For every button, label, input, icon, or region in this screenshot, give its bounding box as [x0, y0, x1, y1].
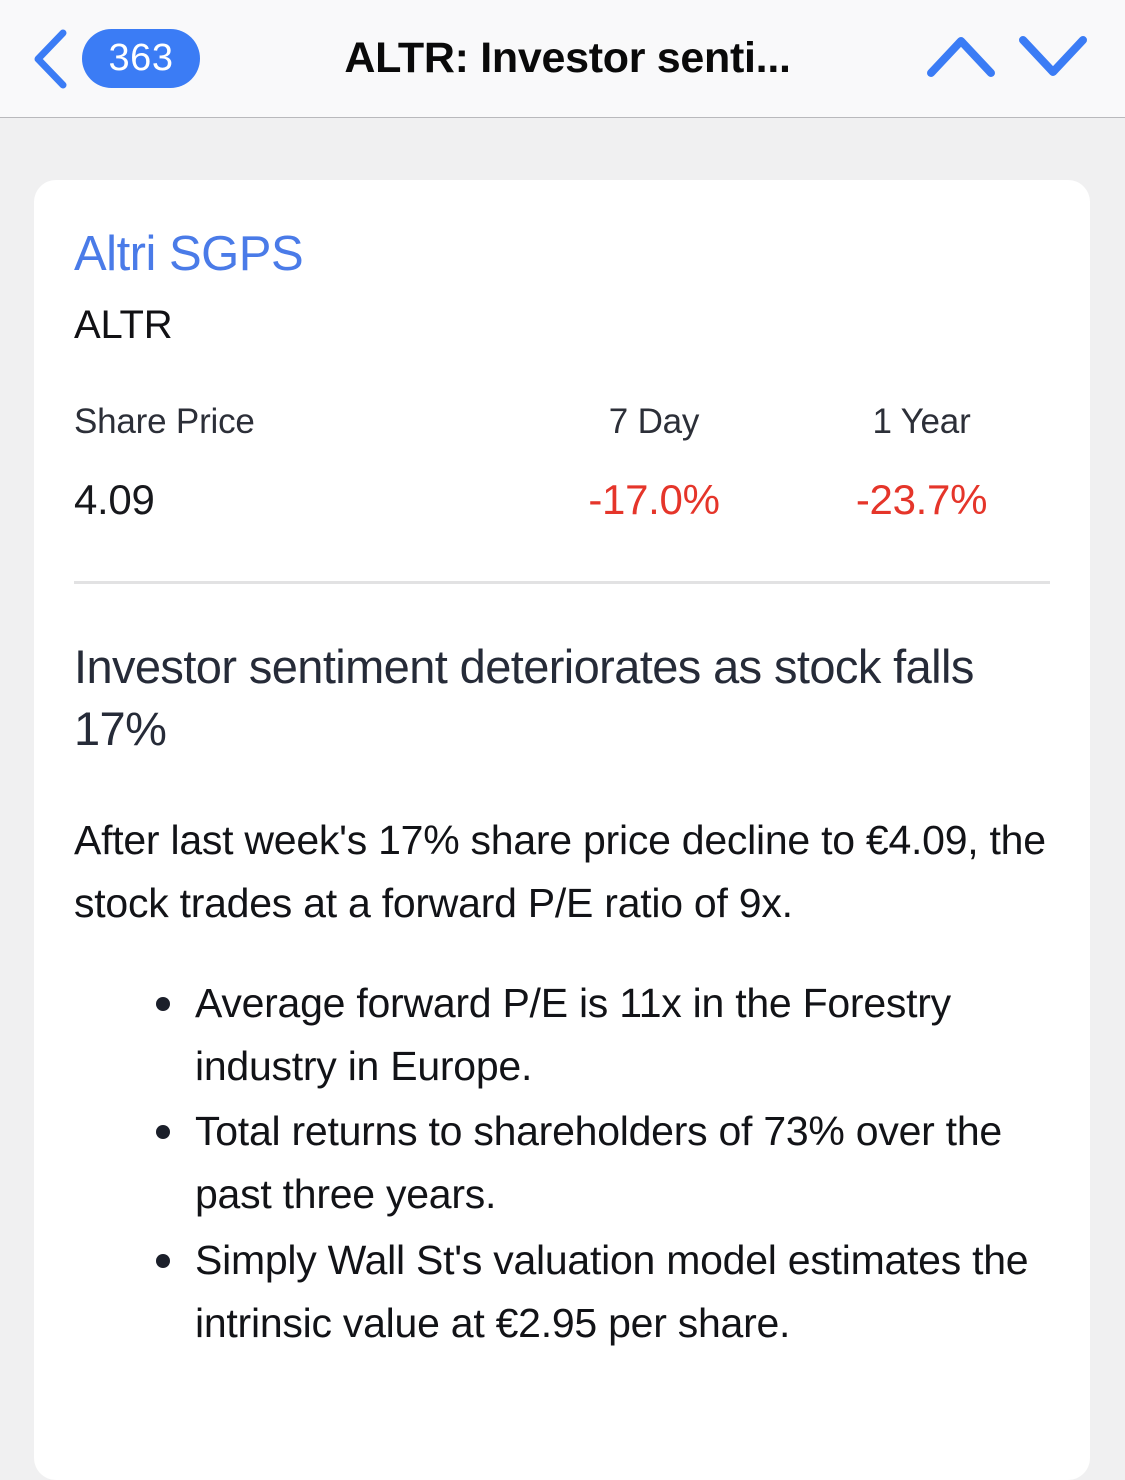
article-bullet-list: Average forward P/E is 11x in the Forest… [74, 972, 1050, 1355]
chevron-down-icon [1017, 33, 1089, 84]
top-navigation-bar: 363 ALTR: Investor senti... [0, 0, 1125, 118]
stat-value-7-day: -17.0% [514, 476, 794, 524]
list-item: Total returns to shareholders of 73% ove… [156, 1100, 1050, 1226]
stat-label-share-price: Share Price [74, 402, 514, 442]
page-title: ALTR: Investor senti... [200, 34, 915, 83]
article-card: Altri SGPS ALTR Share Price 7 Day 1 Year… [34, 180, 1090, 1480]
stat-label-1-year: 1 Year [794, 402, 1049, 442]
section-divider [74, 581, 1050, 584]
unread-count-badge[interactable]: 363 [82, 29, 200, 88]
list-item: Average forward P/E is 11x in the Forest… [156, 972, 1050, 1098]
stat-value-share-price: 4.09 [74, 476, 514, 524]
previous-article-button[interactable] [915, 24, 1007, 94]
company-name-link[interactable]: Altri SGPS [74, 228, 303, 281]
back-button[interactable] [22, 29, 78, 89]
stats-block: Share Price 7 Day 1 Year 4.09 -17.0% -23… [74, 402, 1050, 524]
stat-label-7-day: 7 Day [514, 402, 794, 442]
stats-value-row: 4.09 -17.0% -23.7% [74, 476, 1050, 524]
company-ticker: ALTR [74, 303, 1050, 348]
stats-header-row: Share Price 7 Day 1 Year [74, 402, 1050, 442]
stat-value-1-year: -23.7% [794, 476, 1049, 524]
chevron-up-icon [925, 33, 997, 84]
article-headline: Investor sentiment deteriorates as stock… [74, 636, 1050, 761]
next-article-button[interactable] [1007, 24, 1099, 94]
article-summary: After last week's 17% share price declin… [74, 809, 1050, 936]
chevron-left-icon [30, 28, 70, 90]
list-item: Simply Wall St's valuation model estimat… [156, 1229, 1050, 1355]
